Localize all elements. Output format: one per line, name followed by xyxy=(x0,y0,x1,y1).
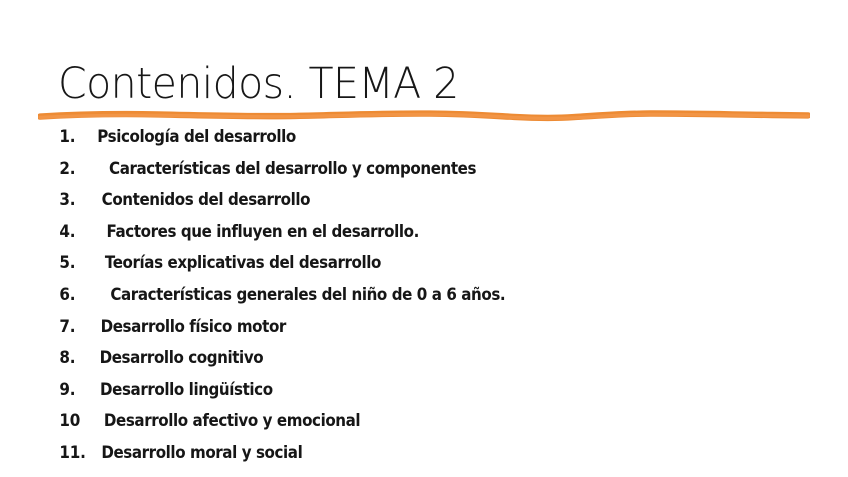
list-item-marker: 5. xyxy=(59,253,90,272)
list-item-label: Desarrollo cognitivo xyxy=(100,348,264,367)
list-item-marker: 4. xyxy=(59,222,90,241)
list-item: 5. Teorías explicativas del desarrollo xyxy=(58,253,818,285)
list-item-marker: 3. xyxy=(59,190,90,209)
list-item: 4. Factores que influyen en el desarroll… xyxy=(58,222,818,254)
contents-list: 1. Psicología del desarrollo 2. Caracter… xyxy=(58,127,818,475)
list-item: 3. Contenidos del desarrollo xyxy=(58,190,818,222)
list-item-label: Características generales del niño de 0 … xyxy=(110,285,505,304)
list-item: 1. Psicología del desarrollo xyxy=(58,127,818,159)
list-item: 2. Características del desarrollo y comp… xyxy=(58,159,818,191)
list-item-label: Factores que influyen en el desarrollo. xyxy=(107,222,419,241)
list-item-label: Teorías explicativas del desarrollo xyxy=(105,253,381,272)
list-item-label: Características del desarrollo y compone… xyxy=(109,159,476,178)
list-item: 8. Desarrollo cognitivo xyxy=(58,348,818,380)
list-item-marker: 8. xyxy=(59,348,90,367)
list-item-label: Desarrollo físico motor xyxy=(101,317,286,336)
list-item-label: Psicología del desarrollo xyxy=(97,127,296,146)
list-item-marker: 7. xyxy=(59,317,90,336)
presentation-slide: Contenidos. TEMA 2 1. Psicología del des… xyxy=(0,0,848,477)
list-item-marker: 2. xyxy=(59,159,90,178)
list-item-marker: 11. xyxy=(59,443,90,462)
list-item-marker: 9. xyxy=(59,380,90,399)
list-item-marker: 10 xyxy=(59,411,90,430)
list-item: 6. Características generales del niño de… xyxy=(58,285,818,317)
list-item-label: Desarrollo lingüístico xyxy=(100,380,273,399)
list-item: 11. Desarrollo moral y social xyxy=(58,443,818,475)
orange-wavy-divider xyxy=(38,104,810,126)
list-item: 10 Desarrollo afectivo y emocional xyxy=(58,411,818,443)
list-item-marker: 1. xyxy=(59,127,90,146)
list-item-label: Contenidos del desarrollo xyxy=(102,190,310,209)
list-item: 7. Desarrollo físico motor xyxy=(58,317,818,349)
list-item-label: Desarrollo moral y social xyxy=(101,443,302,462)
list-item-label: Desarrollo afectivo y emocional xyxy=(104,411,360,430)
page-title: Contenidos. TEMA 2 xyxy=(58,62,459,107)
list-item: 9. Desarrollo lingüístico xyxy=(58,380,818,412)
list-item-marker: 6. xyxy=(59,285,90,304)
